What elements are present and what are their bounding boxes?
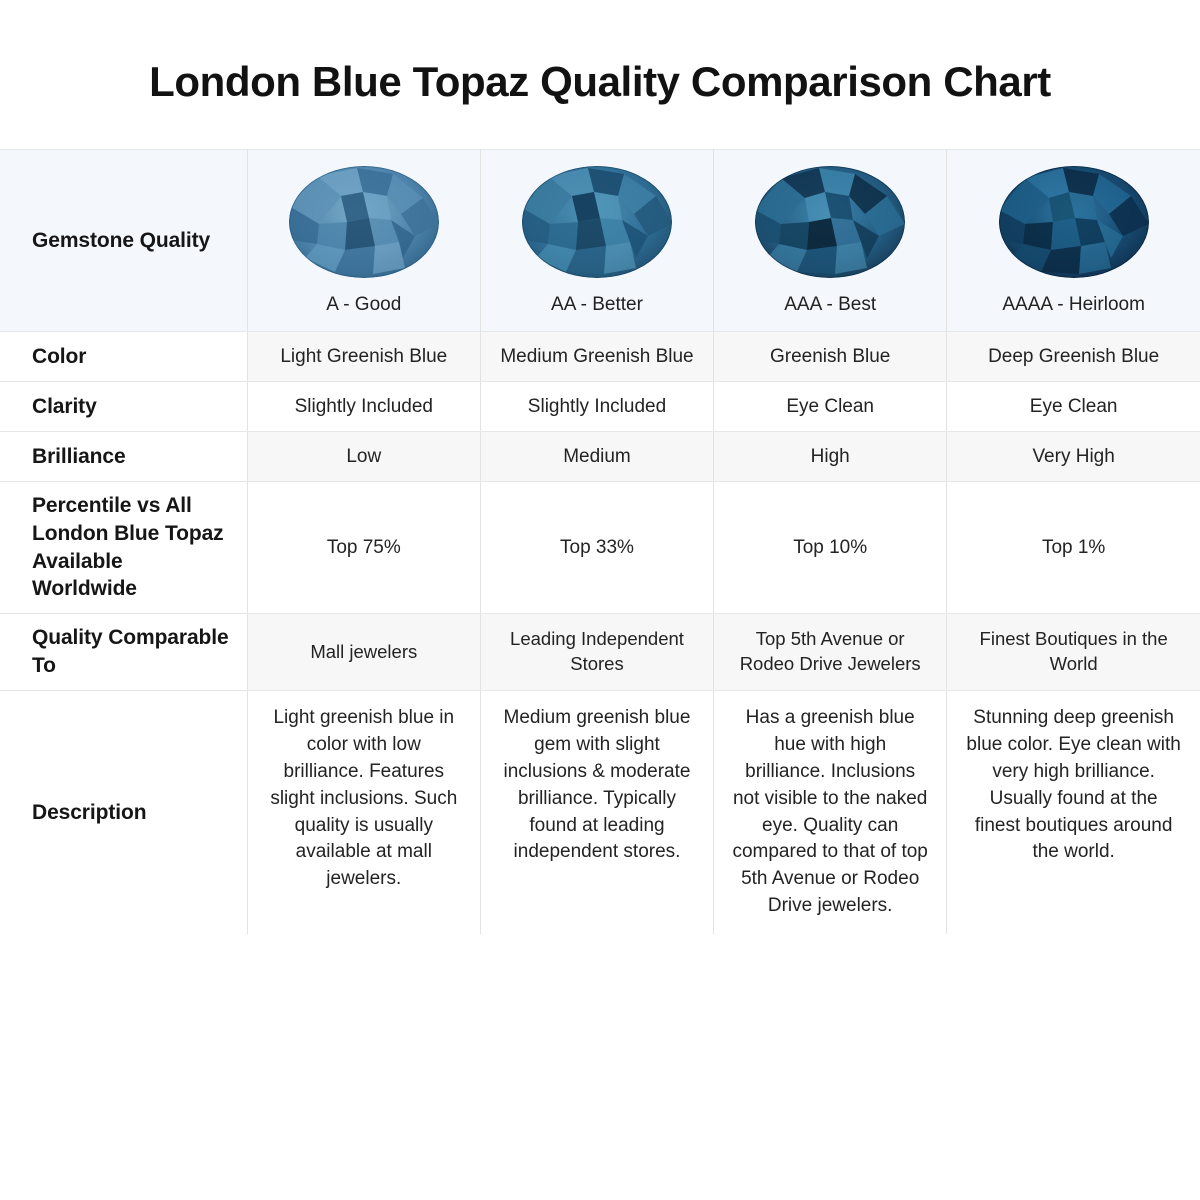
cell-percentile-aaaa: Top 1% <box>947 482 1200 614</box>
cell-comparable-a: Mall jewelers <box>247 614 480 690</box>
comparison-chart-page: London Blue Topaz Quality Comparison Cha… <box>0 0 1200 1200</box>
cell-brilliance-aaaa: Very High <box>947 432 1200 482</box>
gem-aaa-facets <box>755 166 905 278</box>
grade-label-aaaa: AAAA - Heirloom <box>1002 294 1145 317</box>
table-row-gemstone-quality: Gemstone Quality <box>0 150 1200 332</box>
page-title: London Blue Topaz Quality Comparison Cha… <box>0 0 1200 106</box>
cell-comparable-aaaa: Finest Boutiques in the World <box>947 614 1200 690</box>
grade-cell-aaaa: AAAA - Heirloom <box>947 150 1200 332</box>
cell-color-aaaa: Deep Greenish Blue <box>947 332 1200 382</box>
cell-description-aaaa: Stunning deep greenish blue color. Eye c… <box>947 690 1200 934</box>
cell-percentile-a: Top 75% <box>247 482 480 614</box>
cell-comparable-aaa: Top 5th Avenue or Rodeo Drive Jewelers <box>714 614 947 690</box>
cell-color-aa: Medium Greenish Blue <box>480 332 713 382</box>
gem-a-image <box>289 166 439 278</box>
grade-label-a: A - Good <box>326 294 401 317</box>
row-label-percentile: Percentile vs All London Blue Topaz Avai… <box>0 482 247 614</box>
row-label-description: Description <box>0 690 247 934</box>
cell-clarity-aaaa: Eye Clean <box>947 382 1200 432</box>
cell-color-a: Light Greenish Blue <box>247 332 480 382</box>
cell-brilliance-aa: Medium <box>480 432 713 482</box>
row-label-gemstone-quality: Gemstone Quality <box>0 150 247 332</box>
table-row-percentile: Percentile vs All London Blue Topaz Avai… <box>0 482 1200 614</box>
cell-description-a: Light greenish blue in color with low br… <box>247 690 480 934</box>
gem-aa-image <box>522 166 672 278</box>
gem-aaaa-image <box>999 166 1149 278</box>
row-label-brilliance: Brilliance <box>0 432 247 482</box>
grade-cell-a: A - Good <box>247 150 480 332</box>
grade-cell-aaa: AAA - Best <box>714 150 947 332</box>
table-row-description: Description Light greenish blue in color… <box>0 690 1200 934</box>
cell-percentile-aaa: Top 10% <box>714 482 947 614</box>
cell-comparable-aa: Leading Independent Stores <box>480 614 713 690</box>
gem-aaa-image <box>755 166 905 278</box>
cell-clarity-aa: Slightly Included <box>480 382 713 432</box>
gem-aaaa-facets <box>999 166 1149 278</box>
quality-comparison-table: Gemstone Quality <box>0 149 1200 934</box>
row-label-text: Gemstone Quality <box>32 229 210 252</box>
gem-a-facets <box>289 166 439 278</box>
cell-brilliance-a: Low <box>247 432 480 482</box>
table-row-clarity: Clarity Slightly Included Slightly Inclu… <box>0 382 1200 432</box>
gem-aa-facets <box>522 166 672 278</box>
row-label-color: Color <box>0 332 247 382</box>
cell-clarity-aaa: Eye Clean <box>714 382 947 432</box>
row-label-clarity: Clarity <box>0 382 247 432</box>
grade-label-aaa: AAA - Best <box>784 294 876 317</box>
table-row-color: Color Light Greenish Blue Medium Greenis… <box>0 332 1200 382</box>
table-row-comparable: Quality Comparable To Mall jewelers Lead… <box>0 614 1200 690</box>
grade-cell-aa: AA - Better <box>480 150 713 332</box>
cell-description-aa: Medium greenish blue gem with slight inc… <box>480 690 713 934</box>
row-label-comparable: Quality Comparable To <box>0 614 247 690</box>
cell-clarity-a: Slightly Included <box>247 382 480 432</box>
cell-color-aaa: Greenish Blue <box>714 332 947 382</box>
cell-brilliance-aaa: High <box>714 432 947 482</box>
cell-description-aaa: Has a greenish blue hue with high brilli… <box>714 690 947 934</box>
cell-percentile-aa: Top 33% <box>480 482 713 614</box>
table-row-brilliance: Brilliance Low Medium High Very High <box>0 432 1200 482</box>
grade-label-aa: AA - Better <box>551 294 643 317</box>
